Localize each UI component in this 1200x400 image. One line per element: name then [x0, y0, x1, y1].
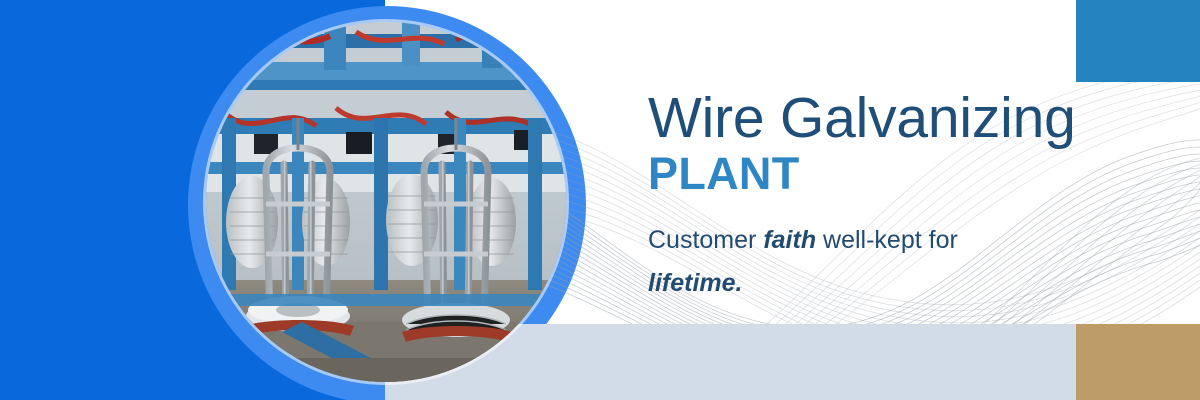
- tagline-emphasis: faith: [763, 226, 816, 254]
- tagline-line-2: lifetime.: [648, 264, 1178, 302]
- headline-text-block: Wire Galvanizing PLANT Customer faith we…: [648, 88, 1178, 302]
- page-title: Wire Galvanizing: [648, 88, 1178, 148]
- page-subtitle: PLANT: [648, 148, 1178, 200]
- bottom-bar-gold: [1076, 324, 1200, 400]
- tagline-line-1: Customer faith well-kept for lifetime.: [648, 216, 1178, 302]
- banner-root: Wire Galvanizing PLANT Customer faith we…: [0, 0, 1200, 400]
- tagline-prefix: Customer: [648, 226, 763, 254]
- plant-photo: [206, 22, 566, 382]
- tagline-suffix: well-kept for: [816, 226, 958, 254]
- accent-block-top-right: [1076, 0, 1200, 82]
